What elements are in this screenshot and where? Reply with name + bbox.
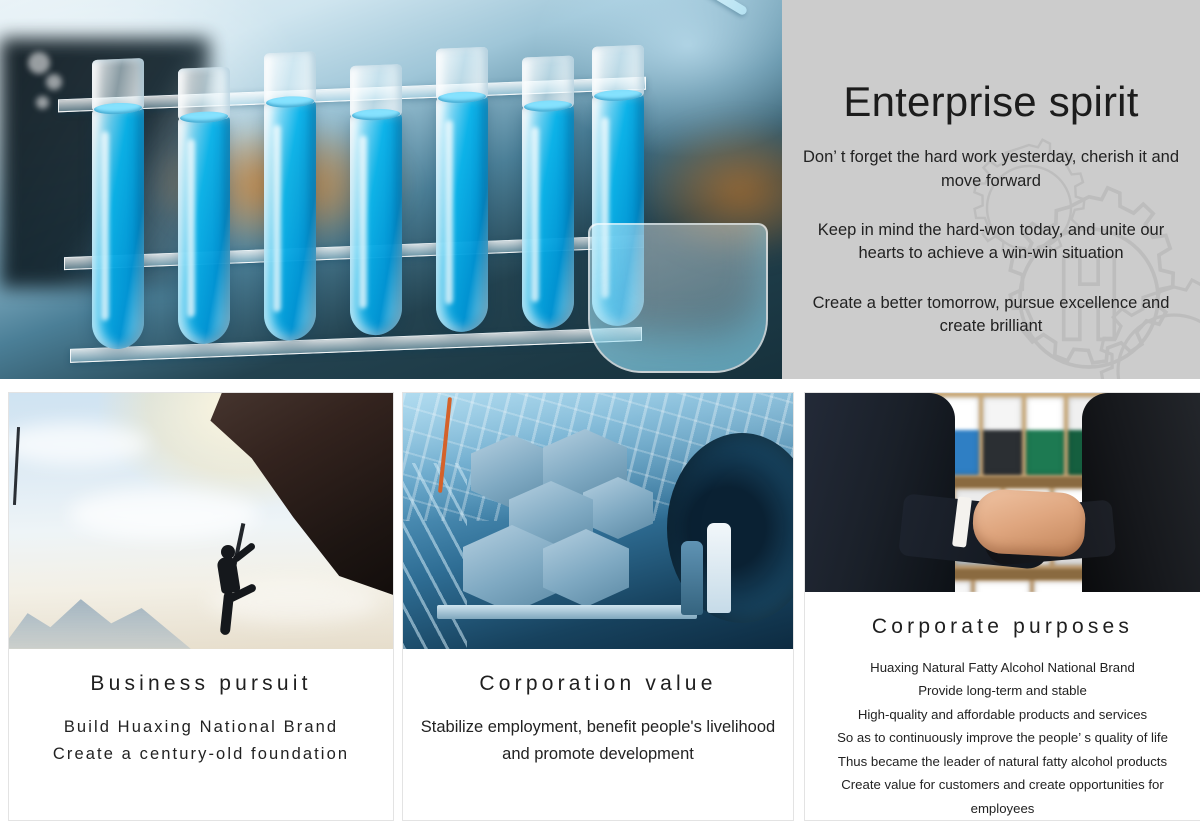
climber-photo (9, 393, 393, 649)
card-line: Provide long-term and stable (817, 679, 1188, 703)
card-lines: Huaxing Natural Fatty Alcohol National B… (817, 656, 1188, 821)
card-corporate-purposes[interactable]: Corporate purposes Huaxing Natural Fatty… (804, 392, 1200, 821)
card-title: Corporate purposes (817, 614, 1188, 639)
card-line: Huaxing Natural Fatty Alcohol National B… (817, 656, 1188, 680)
card-body: Corporation value Stabilize employment, … (403, 649, 793, 820)
card-line: Create value for customers and create op… (817, 773, 1188, 820)
card-line: Build Huaxing National Brand (21, 714, 381, 741)
card-title: Corporation value (415, 671, 781, 696)
technician-white-suit (707, 523, 731, 613)
enterprise-spirit-page: Enterprise spirit Don’ t forget the hard… (0, 0, 1200, 829)
test-tube (436, 95, 488, 333)
card-line: Create a century-old foundation (21, 741, 381, 768)
card-line: Stabilize employment, benefit people's l… (415, 714, 781, 741)
handshake-photo (805, 393, 1200, 592)
card-lines: Stabilize employment, benefit people's l… (415, 714, 781, 767)
hero-band: Enterprise spirit Don’ t forget the hard… (0, 0, 1200, 379)
card-business-pursuit[interactable]: Business pursuit Build Huaxing National … (8, 392, 394, 821)
card-line: So as to continuously improve the people… (817, 726, 1188, 750)
bokeh-dot (28, 52, 50, 74)
person-right-suit (1082, 393, 1200, 592)
test-tube (178, 115, 230, 345)
card-line: Thus became the leader of natural fatty … (817, 750, 1188, 774)
climber-silhouette (203, 539, 265, 639)
handshake-hands (971, 488, 1086, 558)
test-tube (350, 112, 402, 336)
card-line: High-quality and affordable products and… (817, 703, 1188, 727)
hexagonal-mirror-array (465, 429, 675, 619)
beaker (588, 223, 768, 373)
card-body: Business pursuit Build Huaxing National … (9, 649, 393, 820)
card-body: Corporate purposes Huaxing Natural Fatty… (805, 592, 1200, 820)
mirror-support-rig (437, 605, 697, 619)
technician-blue (681, 541, 703, 615)
test-tube (264, 99, 316, 341)
spirit-paragraph-2: Keep in mind the hard-won today, and uni… (794, 219, 1188, 266)
test-tube (92, 106, 144, 350)
card-corporation-value[interactable]: Corporation value Stabilize employment, … (402, 392, 794, 821)
spirit-paragraph-1: Don’ t forget the hard work yesterday, c… (794, 146, 1188, 193)
test-tube (522, 104, 574, 330)
mirror-segments-photo (403, 393, 793, 649)
test-tube-rack (58, 7, 648, 360)
spirit-paragraph-3: Create a better tomorrow, pursue excelle… (794, 292, 1188, 339)
page-title: Enterprise spirit (794, 80, 1188, 124)
lab-test-tubes-photo (0, 0, 782, 379)
bokeh-dot (36, 96, 49, 109)
scaffolding (403, 463, 467, 649)
card-lines: Build Huaxing National Brand Create a ce… (21, 714, 381, 767)
enterprise-spirit-panel: Enterprise spirit Don’ t forget the hard… (782, 0, 1200, 379)
value-cards-row: Business pursuit Build Huaxing National … (0, 392, 1200, 829)
cloud (69, 489, 259, 539)
card-title: Business pursuit (21, 671, 381, 696)
card-line: and promote development (415, 741, 781, 768)
person-left-suit (805, 393, 955, 592)
